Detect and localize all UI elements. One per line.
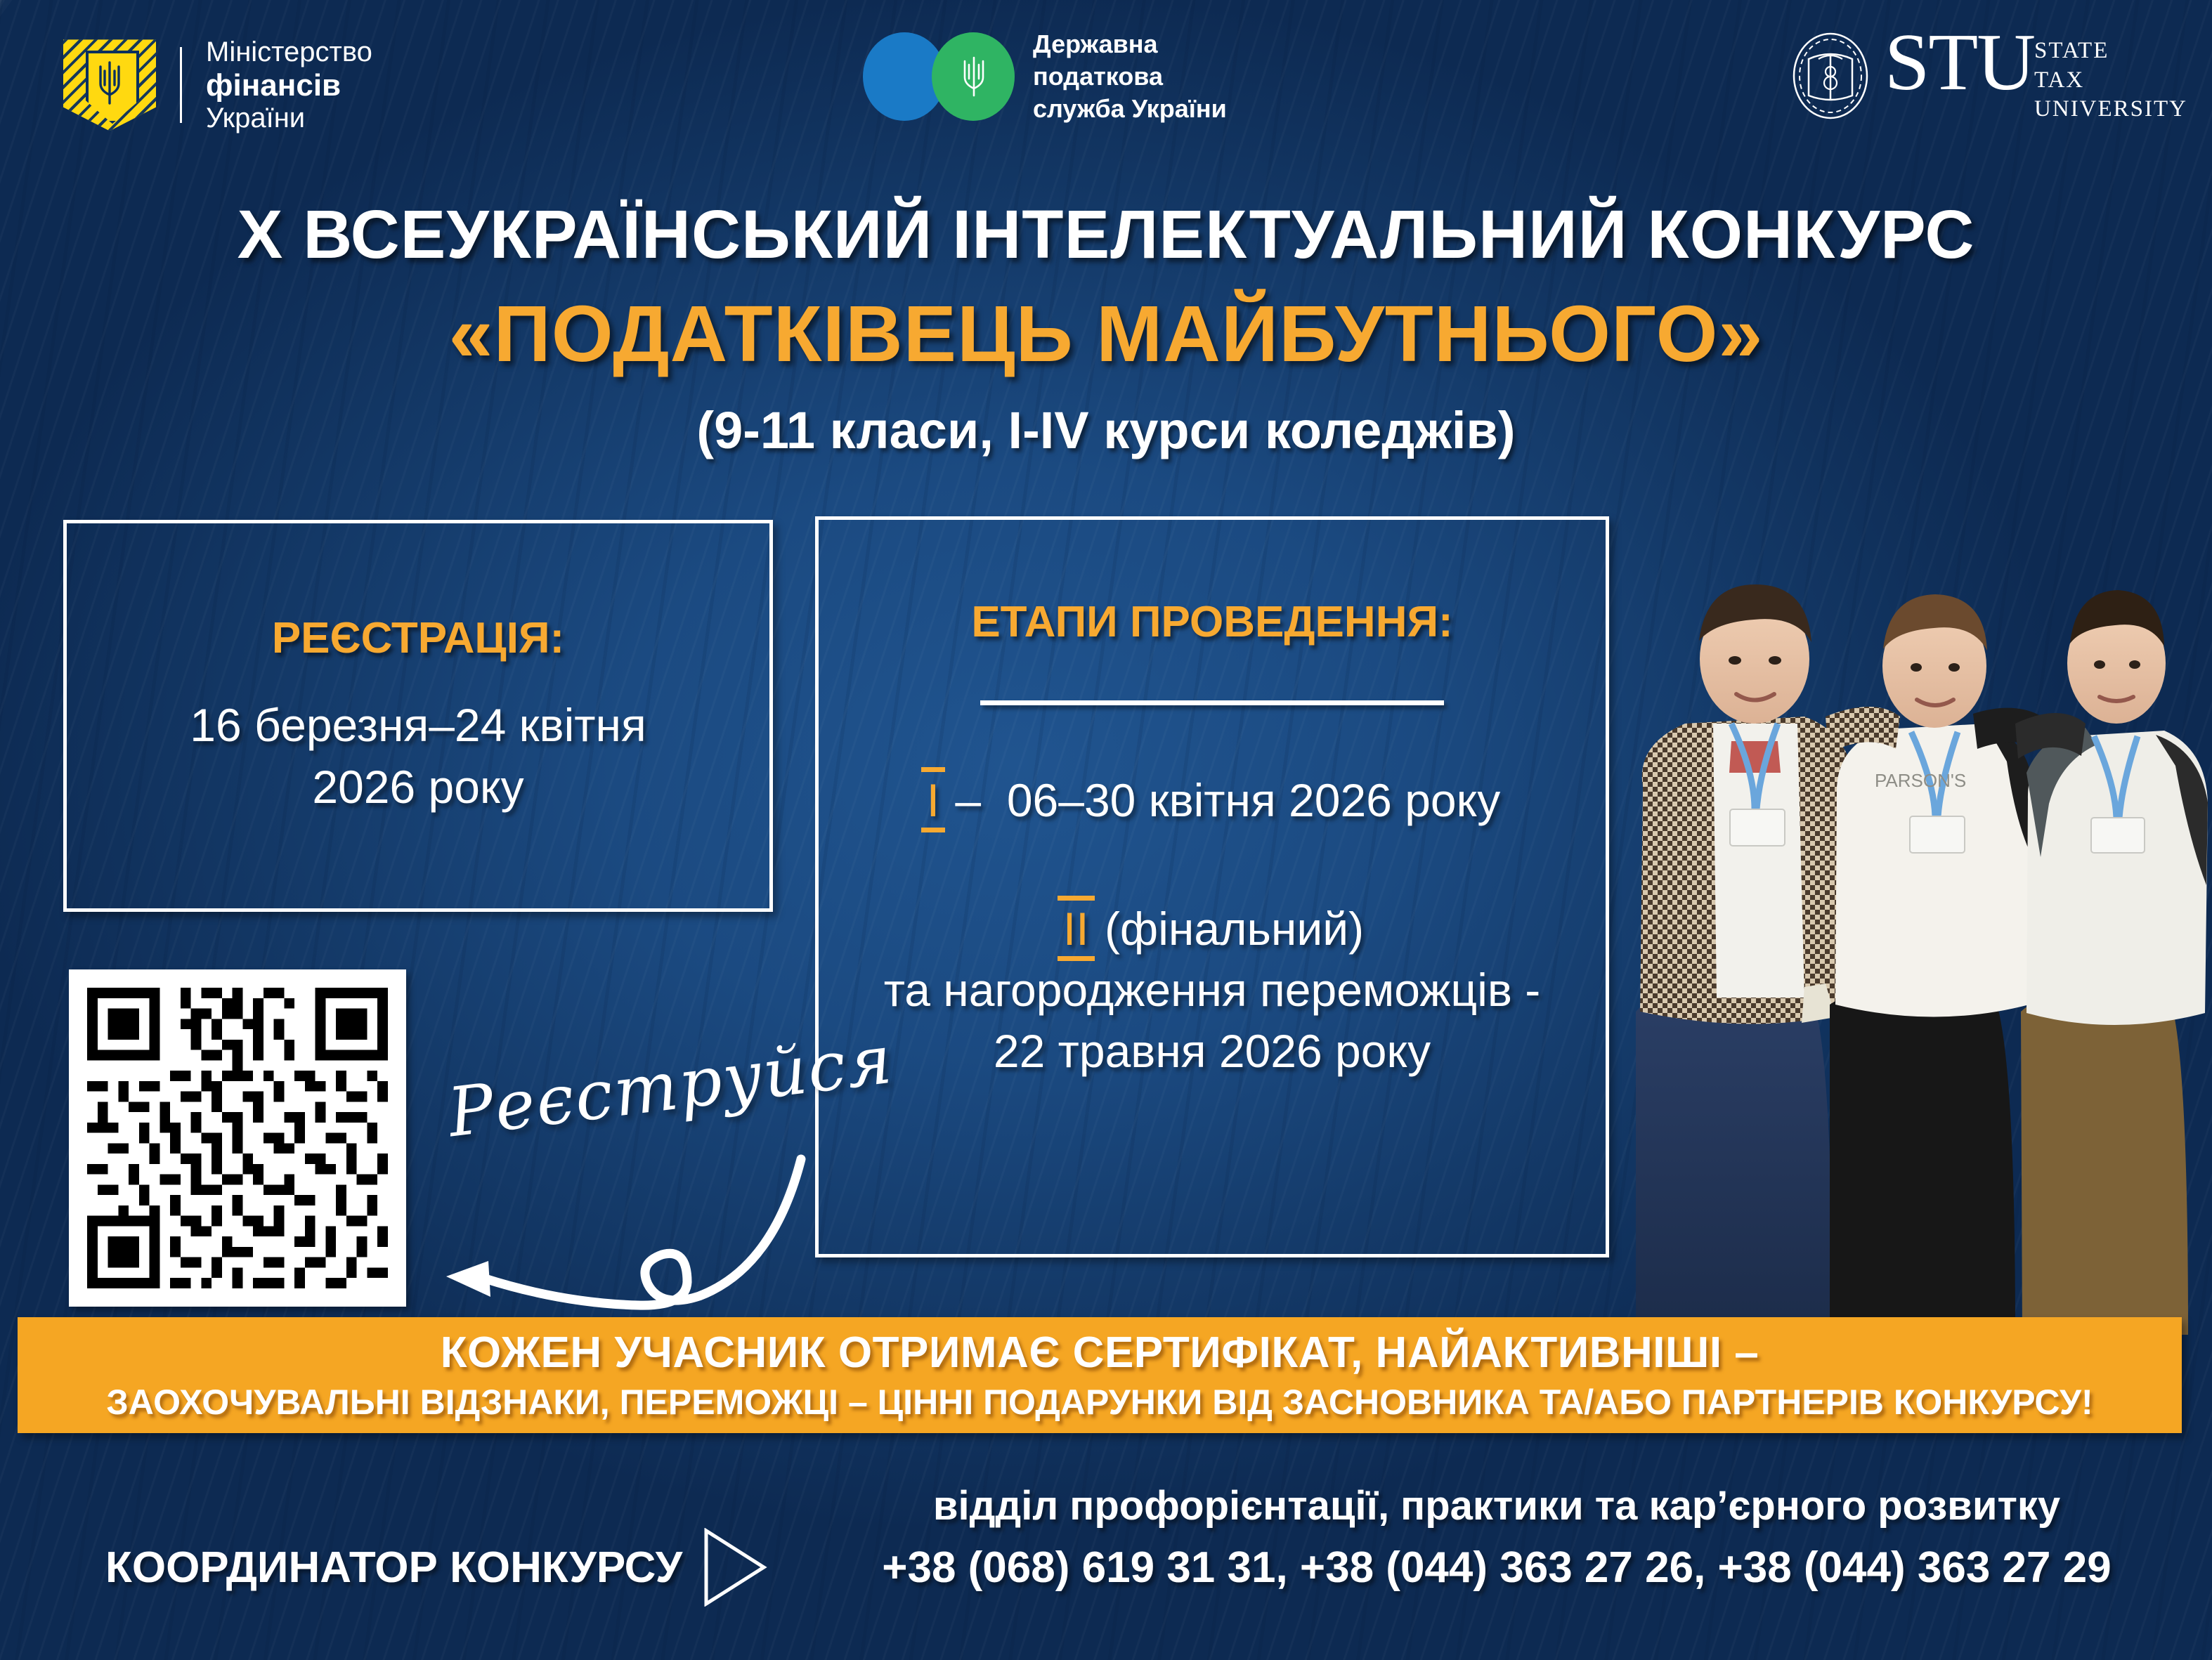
- ministry-of-finance-logo: Міністерство фінансів України: [63, 37, 372, 134]
- tax-line3: служба України: [1033, 93, 1227, 125]
- stages-divider: [980, 700, 1444, 705]
- ministry-name: Міністерство фінансів України: [206, 37, 372, 134]
- stu-letters: STU: [1885, 28, 2034, 98]
- stage-one-dates: 06–30 квітня 2026 року: [1007, 774, 1500, 826]
- trident-icon: [960, 55, 988, 98]
- poster-root: Міністерство фінансів України Державна п…: [0, 0, 2212, 1660]
- qr-code-icon[interactable]: [87, 988, 388, 1288]
- header-logos: Міністерство фінансів України Державна п…: [0, 0, 2212, 162]
- department-name: відділ профорієнтації, практики та кар’є…: [854, 1482, 2140, 1530]
- stu-word-state: STATE: [2034, 37, 2187, 66]
- stages-box: ЕТАПИ ПРОВЕДЕННЯ: I – 06–30 квітня 2026 …: [815, 516, 1609, 1257]
- registration-dates: 16 березня–24 квітня 2026 року: [67, 694, 769, 818]
- stage-two: II (фінальний) та нагородження переможці…: [819, 898, 1606, 1082]
- registration-dates-line2: 2026 року: [67, 756, 769, 818]
- stage-two-headline: II (фінальний): [819, 898, 1606, 960]
- qr-code-container[interactable]: [69, 969, 406, 1307]
- contest-name: «ПОДАТКІВЕЦЬ МАЙБУТНЬОГО»: [0, 288, 2212, 379]
- student-right: [2015, 590, 2208, 1335]
- students-group-photo: PARSON'S: [1594, 492, 2212, 1335]
- stage-two-line3: 22 травня 2026 року: [819, 1021, 1606, 1082]
- stu-laurel-crest-icon: [1788, 28, 1873, 124]
- coordinator-block: КООРДИНАТОР КОНКУРСУ: [105, 1528, 768, 1607]
- registration-heading: РЕЄСТРАЦІЯ:: [67, 613, 769, 663]
- prizes-banner: КОЖЕН УЧАСНИК ОТРИМАЄ СЕРТИФІКАТ, НАЙАКТ…: [18, 1317, 2182, 1433]
- ukraine-trident-shield-icon: [63, 39, 156, 131]
- triangle-right-icon: [701, 1528, 768, 1607]
- stages-heading: ЕТАПИ ПРОВЕДЕННЯ:: [819, 597, 1606, 647]
- stu-wordmark: STATE TAX UNIVERSITY: [2034, 28, 2187, 124]
- stu-word-tax: TAX: [2034, 66, 2187, 96]
- coordinator-label: КООРДИНАТОР КОНКУРСУ: [105, 1543, 682, 1593]
- state-tax-service-logo: Державна податкова служба України: [863, 28, 1227, 125]
- stu-word-university: UNIVERSITY: [2034, 95, 2187, 124]
- page-subtitle: (9-11 класи, I-IV курси коледжів): [0, 400, 2212, 460]
- tax-service-name: Державна податкова служба України: [1033, 28, 1227, 125]
- stage-two-line2: та нагородження переможців -: [819, 960, 1606, 1021]
- banner-line-2: ЗАОХОЧУВАЛЬНІ ВІДЗНАКИ, ПЕРЕМОЖЦІ – ЦІНН…: [106, 1382, 2093, 1423]
- ministry-line3: України: [206, 103, 372, 134]
- tax-service-ovals-trident-icon: [863, 32, 1015, 121]
- stage-two-numeral: II: [1060, 898, 1092, 960]
- logo-divider: [180, 47, 182, 123]
- state-tax-university-logo: STU STATE TAX UNIVERSITY: [1788, 28, 2187, 124]
- tax-line2: податкова: [1033, 60, 1227, 93]
- stage-one: I – 06–30 квітня 2026 року: [819, 770, 1606, 831]
- ministry-line1: Міністерство: [206, 37, 372, 68]
- banner-line-1: КОЖЕН УЧАСНИК ОТРИМАЄ СЕРТИФІКАТ, НАЙАКТ…: [441, 1328, 1759, 1378]
- student-middle: PARSON'S: [1826, 594, 2052, 1335]
- stage-one-dash: –: [955, 774, 981, 826]
- registration-box: РЕЄСТРАЦІЯ: 16 березня–24 квітня 2026 ро…: [63, 520, 773, 912]
- ministry-line2: фінансів: [206, 68, 372, 103]
- trident-icon: [95, 60, 124, 106]
- students-photo-illustration: PARSON'S: [1594, 492, 2212, 1335]
- page-title: X ВСЕУКРАЇНСЬКИЙ ІНТЕЛЕКТУАЛЬНИЙ КОНКУРС: [0, 195, 2212, 274]
- stage-one-numeral: I: [924, 770, 942, 831]
- svg-text:PARSON'S: PARSON'S: [1875, 770, 1966, 791]
- contact-block: відділ профорієнтації, практики та кар’є…: [854, 1482, 2140, 1593]
- tax-line1: Державна: [1033, 28, 1227, 60]
- curved-arrow-icon: [379, 1138, 815, 1321]
- phone-numbers[interactable]: +38 (068) 619 31 31, +38 (044) 363 27 26…: [854, 1543, 2140, 1593]
- registration-dates-line1: 16 березня–24 квітня: [67, 694, 769, 756]
- stage-two-label: (фінальний): [1105, 903, 1364, 955]
- student-left: [1636, 584, 1855, 1335]
